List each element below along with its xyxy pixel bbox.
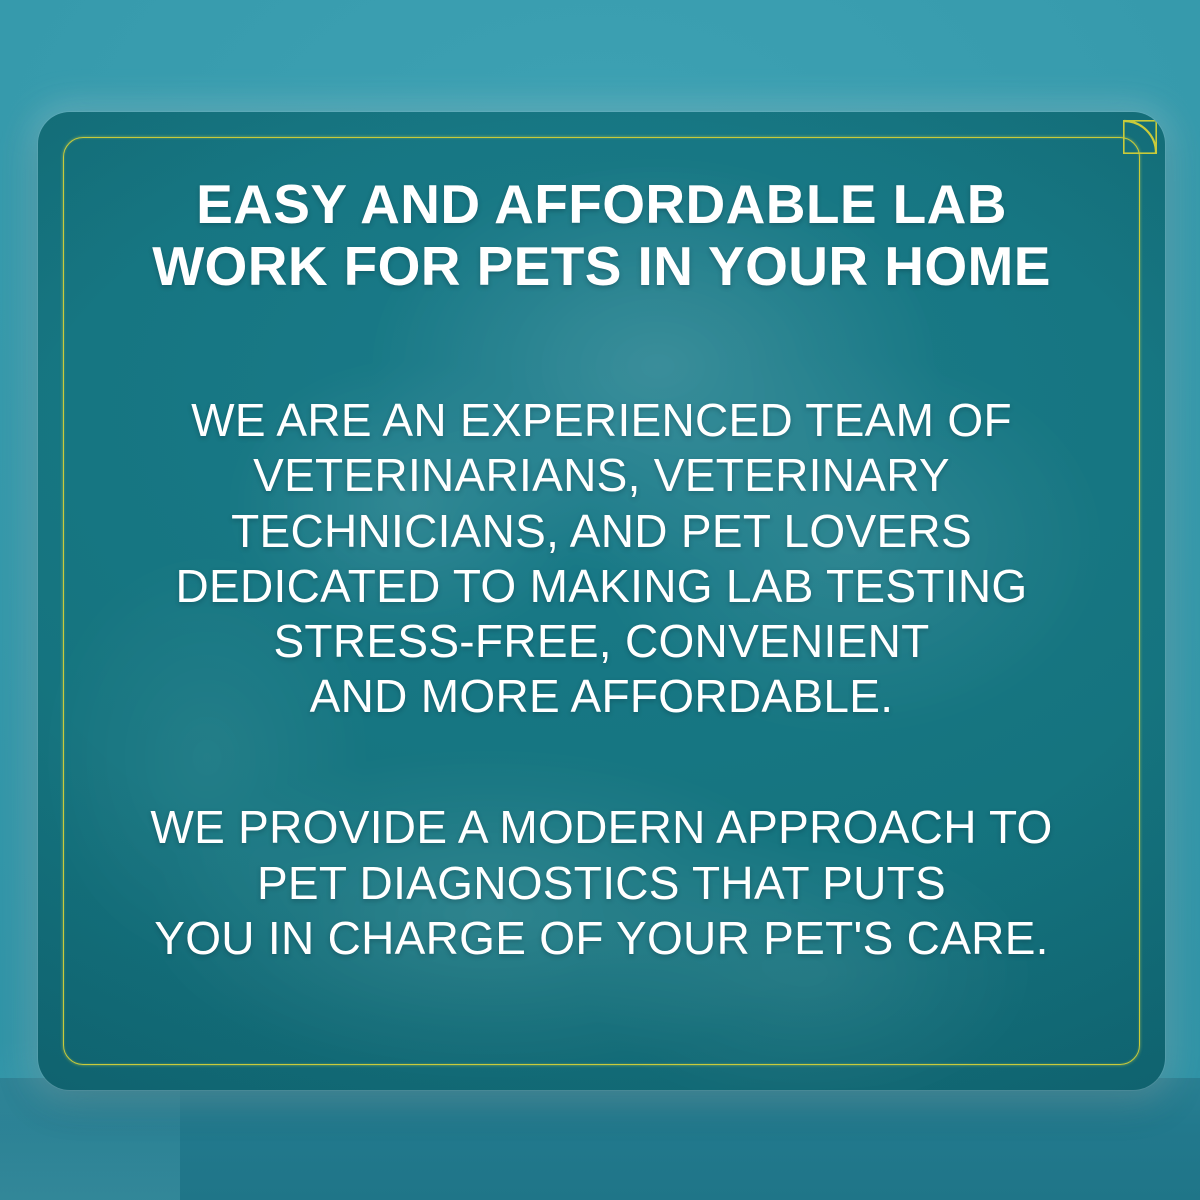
card-content: EASY AND AFFORDABLE LAB WORK FOR PETS IN… xyxy=(38,174,1165,966)
info-card: EASY AND AFFORDABLE LAB WORK FOR PETS IN… xyxy=(38,112,1165,1090)
promo-graphic: EASY AND AFFORDABLE LAB WORK FOR PETS IN… xyxy=(0,0,1200,1200)
page-title: EASY AND AFFORDABLE LAB WORK FOR PETS IN… xyxy=(102,174,1101,297)
approach-paragraph: WE PROVIDE A MODERN APPROACH TO PET DIAG… xyxy=(102,800,1101,966)
about-paragraph: WE ARE AN EXPERIENCED TEAM OF VETERINARI… xyxy=(102,393,1101,724)
